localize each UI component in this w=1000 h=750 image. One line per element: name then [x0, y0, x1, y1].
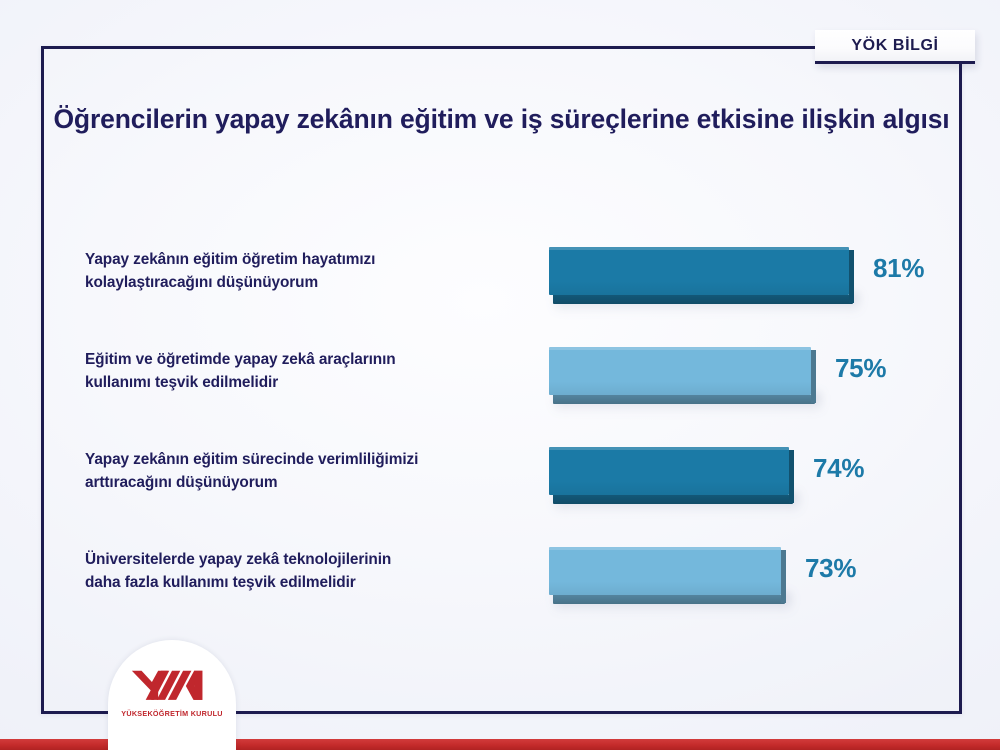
bar-74	[549, 447, 789, 495]
bar-value-label: 81%	[873, 253, 924, 284]
bar-right-edge	[811, 350, 816, 403]
bar-right-edge	[849, 250, 854, 303]
badge-label: YÖK BİLGİ	[851, 37, 938, 55]
chart-row: Yapay zekânın eğitim sürecinde verimlili…	[41, 432, 962, 532]
bar-label-line-2: kolaylaştıracağını düşünüyorum	[85, 271, 555, 294]
bar-label-line-1: Yapay zekânın eğitim sürecinde verimlili…	[85, 448, 555, 471]
infographic-slide: YÖK BİLGİ Öğrencilerin yapay zekânın eği…	[0, 0, 1000, 750]
bar-face	[549, 347, 811, 395]
bar-label-line-2: daha fazla kullanımı teşvik edilmelidir	[85, 571, 555, 594]
bar-label-line-2: arttıracağını düşünüyorum	[85, 471, 555, 494]
bar-bottom-edge	[553, 595, 785, 604]
yok-bilgi-badge: YÖK BİLGİ	[815, 30, 975, 64]
logo-caption: YÜKSEKÖĞRETİM KURULU	[121, 709, 222, 718]
bar-75	[549, 347, 811, 395]
chart-row: Yapay zekânın eğitim öğretim hayatımızık…	[41, 232, 962, 332]
bar-right-edge	[781, 550, 786, 603]
bar-face	[549, 247, 849, 295]
bar-category-label: Eğitim ve öğretimde yapay zekâ araçların…	[85, 348, 555, 394]
bar-label-line-1: Eğitim ve öğretimde yapay zekâ araçların…	[85, 348, 555, 371]
bar-graphic	[549, 247, 859, 311]
bar-label-line-2: kullanımı teşvik edilmelidir	[85, 371, 555, 394]
bar-category-label: Yapay zekânın eğitim sürecinde verimlili…	[85, 448, 555, 494]
bar-graphic	[549, 447, 799, 511]
bar-value-label: 74%	[813, 453, 864, 484]
bar-bottom-edge	[553, 295, 853, 304]
bar-bottom-edge	[553, 495, 793, 504]
chart-row: Üniversitelerde yapay zekâ teknolojileri…	[41, 532, 962, 628]
bar-graphic	[549, 347, 821, 411]
bar-face	[549, 447, 789, 495]
bar-81	[549, 247, 849, 295]
bar-right-edge	[789, 450, 794, 503]
bar-graphic	[549, 547, 791, 611]
bar-73	[549, 547, 781, 595]
page-title: Öğrencilerin yapay zekânın eğitim ve iş …	[41, 100, 962, 139]
chart-row: Eğitim ve öğretimde yapay zekâ araçların…	[41, 332, 962, 432]
bar-category-label: Üniversitelerde yapay zekâ teknolojileri…	[85, 548, 555, 594]
yok-logo-mark	[130, 668, 214, 704]
bar-category-label: Yapay zekânın eğitim öğretim hayatımızık…	[85, 248, 555, 294]
bar-face	[549, 547, 781, 595]
bar-bottom-edge	[553, 395, 815, 404]
bar-value-label: 75%	[835, 353, 886, 384]
bar-label-line-1: Yapay zekânın eğitim öğretim hayatımızı	[85, 248, 555, 271]
bar-label-line-1: Üniversitelerde yapay zekâ teknolojileri…	[85, 548, 555, 571]
bar-chart: Yapay zekânın eğitim öğretim hayatımızık…	[41, 232, 962, 628]
bar-value-label: 73%	[805, 553, 856, 584]
